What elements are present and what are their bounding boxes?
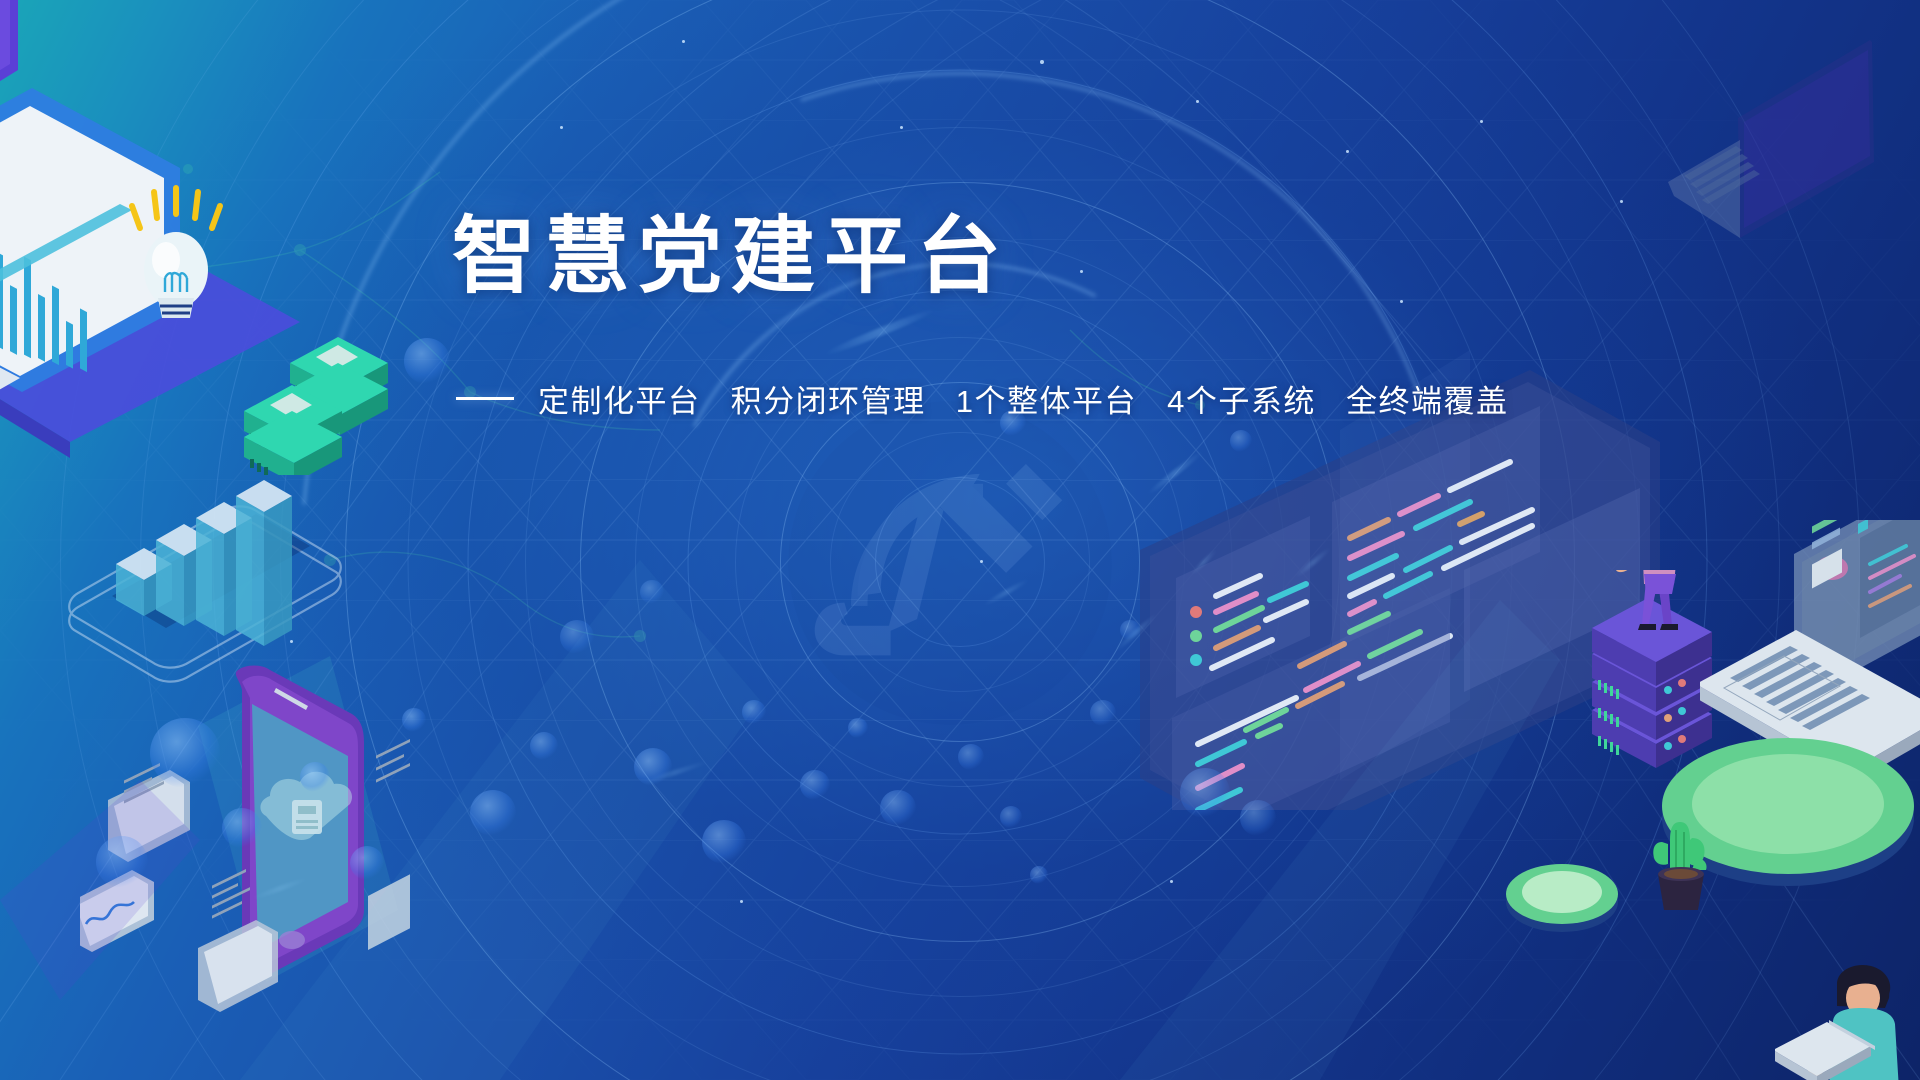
- hexagon-pattern: [0, 0, 1920, 1080]
- page-subtitle: 定制化平台 积分闭环管理 1个整体平台 4个子系统 全终端覆盖: [538, 376, 1509, 421]
- subtitle-item-2: 1个整体平台: [956, 384, 1137, 419]
- idea-lightbulb: [110, 180, 240, 340]
- subtitle-item-4: 全终端覆盖: [1346, 384, 1509, 419]
- subtitle-item-1: 积分闭环管理: [731, 384, 926, 419]
- subtitle-row: 定制化平台 积分闭环管理 1个整体平台 4个子系统 全终端覆盖: [456, 376, 1472, 421]
- flowing-wire-lines: [0, 0, 1920, 1080]
- person-with-laptop: [1775, 950, 1920, 1080]
- subtitle-item-3: 4个子系统: [1167, 384, 1316, 419]
- translucent-overlay-plates: [0, 0, 1920, 1080]
- open-laptop-device: [1700, 520, 1920, 800]
- cpc-party-emblem-watermark: [785, 398, 1115, 728]
- top-left-purple-panel: [0, 0, 120, 140]
- page-title: 智慧党建平台: [452, 214, 1472, 298]
- dark-laptop-silhouette: [1640, 10, 1920, 260]
- subtitle-dash-rule: [456, 397, 514, 400]
- person-standing-on-servers: [1572, 570, 1752, 830]
- smartphone-cloud-storage: [80, 610, 410, 1030]
- subtitle-item-0: 定制化平台: [538, 384, 701, 419]
- isometric-3d-bar-chart: [50, 440, 380, 740]
- hero-text-block: 智慧党建平台 定制化平台 积分闭环管理 1个整体平台 4个子系统 全终端覆盖: [452, 214, 1472, 421]
- potted-cactus-plant: [1632, 800, 1742, 920]
- stacked-server-boxes: [238, 325, 418, 475]
- hero-banner: 智慧党建平台 定制化平台 积分闭环管理 1个整体平台 4个子系统 全终端覆盖: [0, 0, 1920, 1080]
- desktop-monitor-with-bar-chart: [0, 60, 310, 490]
- green-circular-platforms: [1480, 730, 1920, 980]
